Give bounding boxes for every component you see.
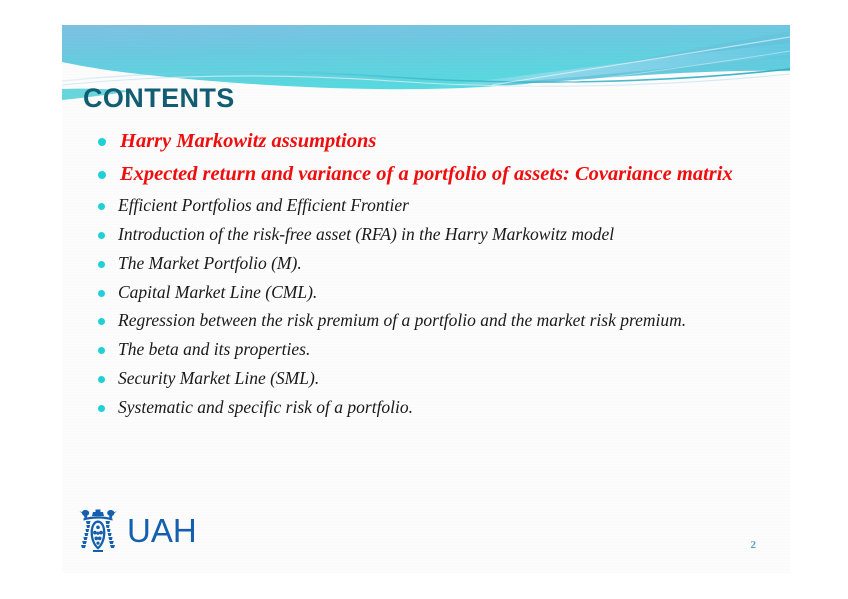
- uah-university-crest-icon: [74, 507, 122, 553]
- uah-logo-text: UAH: [127, 514, 197, 547]
- list-item: Regression between the risk premium of a…: [98, 309, 770, 332]
- page-number: 2: [751, 539, 757, 551]
- bullet-marker-icon: [98, 290, 105, 297]
- list-item-label: Security Market Line (SML).: [118, 367, 319, 390]
- list-item-label: Regression between the risk premium of a…: [118, 309, 686, 332]
- bullet-marker-icon: [98, 318, 105, 325]
- list-item: Efficient Portfolios and Efficient Front…: [98, 194, 770, 217]
- list-item: Capital Market Line (CML).: [98, 281, 770, 304]
- contents-list: Harry Markowitz assumptions Expected ret…: [98, 128, 770, 424]
- bullet-marker-icon: [98, 138, 106, 146]
- list-item-label: Introduction of the risk-free asset (RFA…: [118, 223, 614, 246]
- bullet-marker-icon: [98, 171, 106, 179]
- list-item: The beta and its properties.: [98, 338, 770, 361]
- bullet-marker-icon: [98, 232, 105, 239]
- list-item: The Market Portfolio (M).: [98, 252, 770, 275]
- list-item: Expected return and variance of a portfo…: [98, 161, 770, 187]
- list-item: Harry Markowitz assumptions: [98, 128, 770, 154]
- page-title: CONTENTS: [83, 83, 235, 114]
- bullet-marker-icon: [98, 261, 105, 268]
- uah-logo: UAH: [74, 507, 197, 553]
- list-item: Introduction of the risk-free asset (RFA…: [98, 223, 770, 246]
- list-item-label: Systematic and specific risk of a portfo…: [118, 396, 413, 419]
- list-item-label: Expected return and variance of a portfo…: [120, 161, 733, 187]
- list-item-label: The beta and its properties.: [118, 338, 310, 361]
- list-item-label: Capital Market Line (CML).: [118, 281, 317, 304]
- list-item: Security Market Line (SML).: [98, 367, 770, 390]
- list-item-label: Efficient Portfolios and Efficient Front…: [118, 194, 409, 217]
- list-item-label: Harry Markowitz assumptions: [120, 128, 376, 154]
- bullet-marker-icon: [98, 376, 105, 383]
- list-item-label: The Market Portfolio (M).: [118, 252, 302, 275]
- bullet-marker-icon: [98, 347, 105, 354]
- list-item: Systematic and specific risk of a portfo…: [98, 396, 770, 419]
- bullet-marker-icon: [98, 203, 105, 210]
- presentation-slide: CONTENTS Harry Markowitz assumptions Exp…: [62, 25, 790, 573]
- bullet-marker-icon: [98, 405, 105, 412]
